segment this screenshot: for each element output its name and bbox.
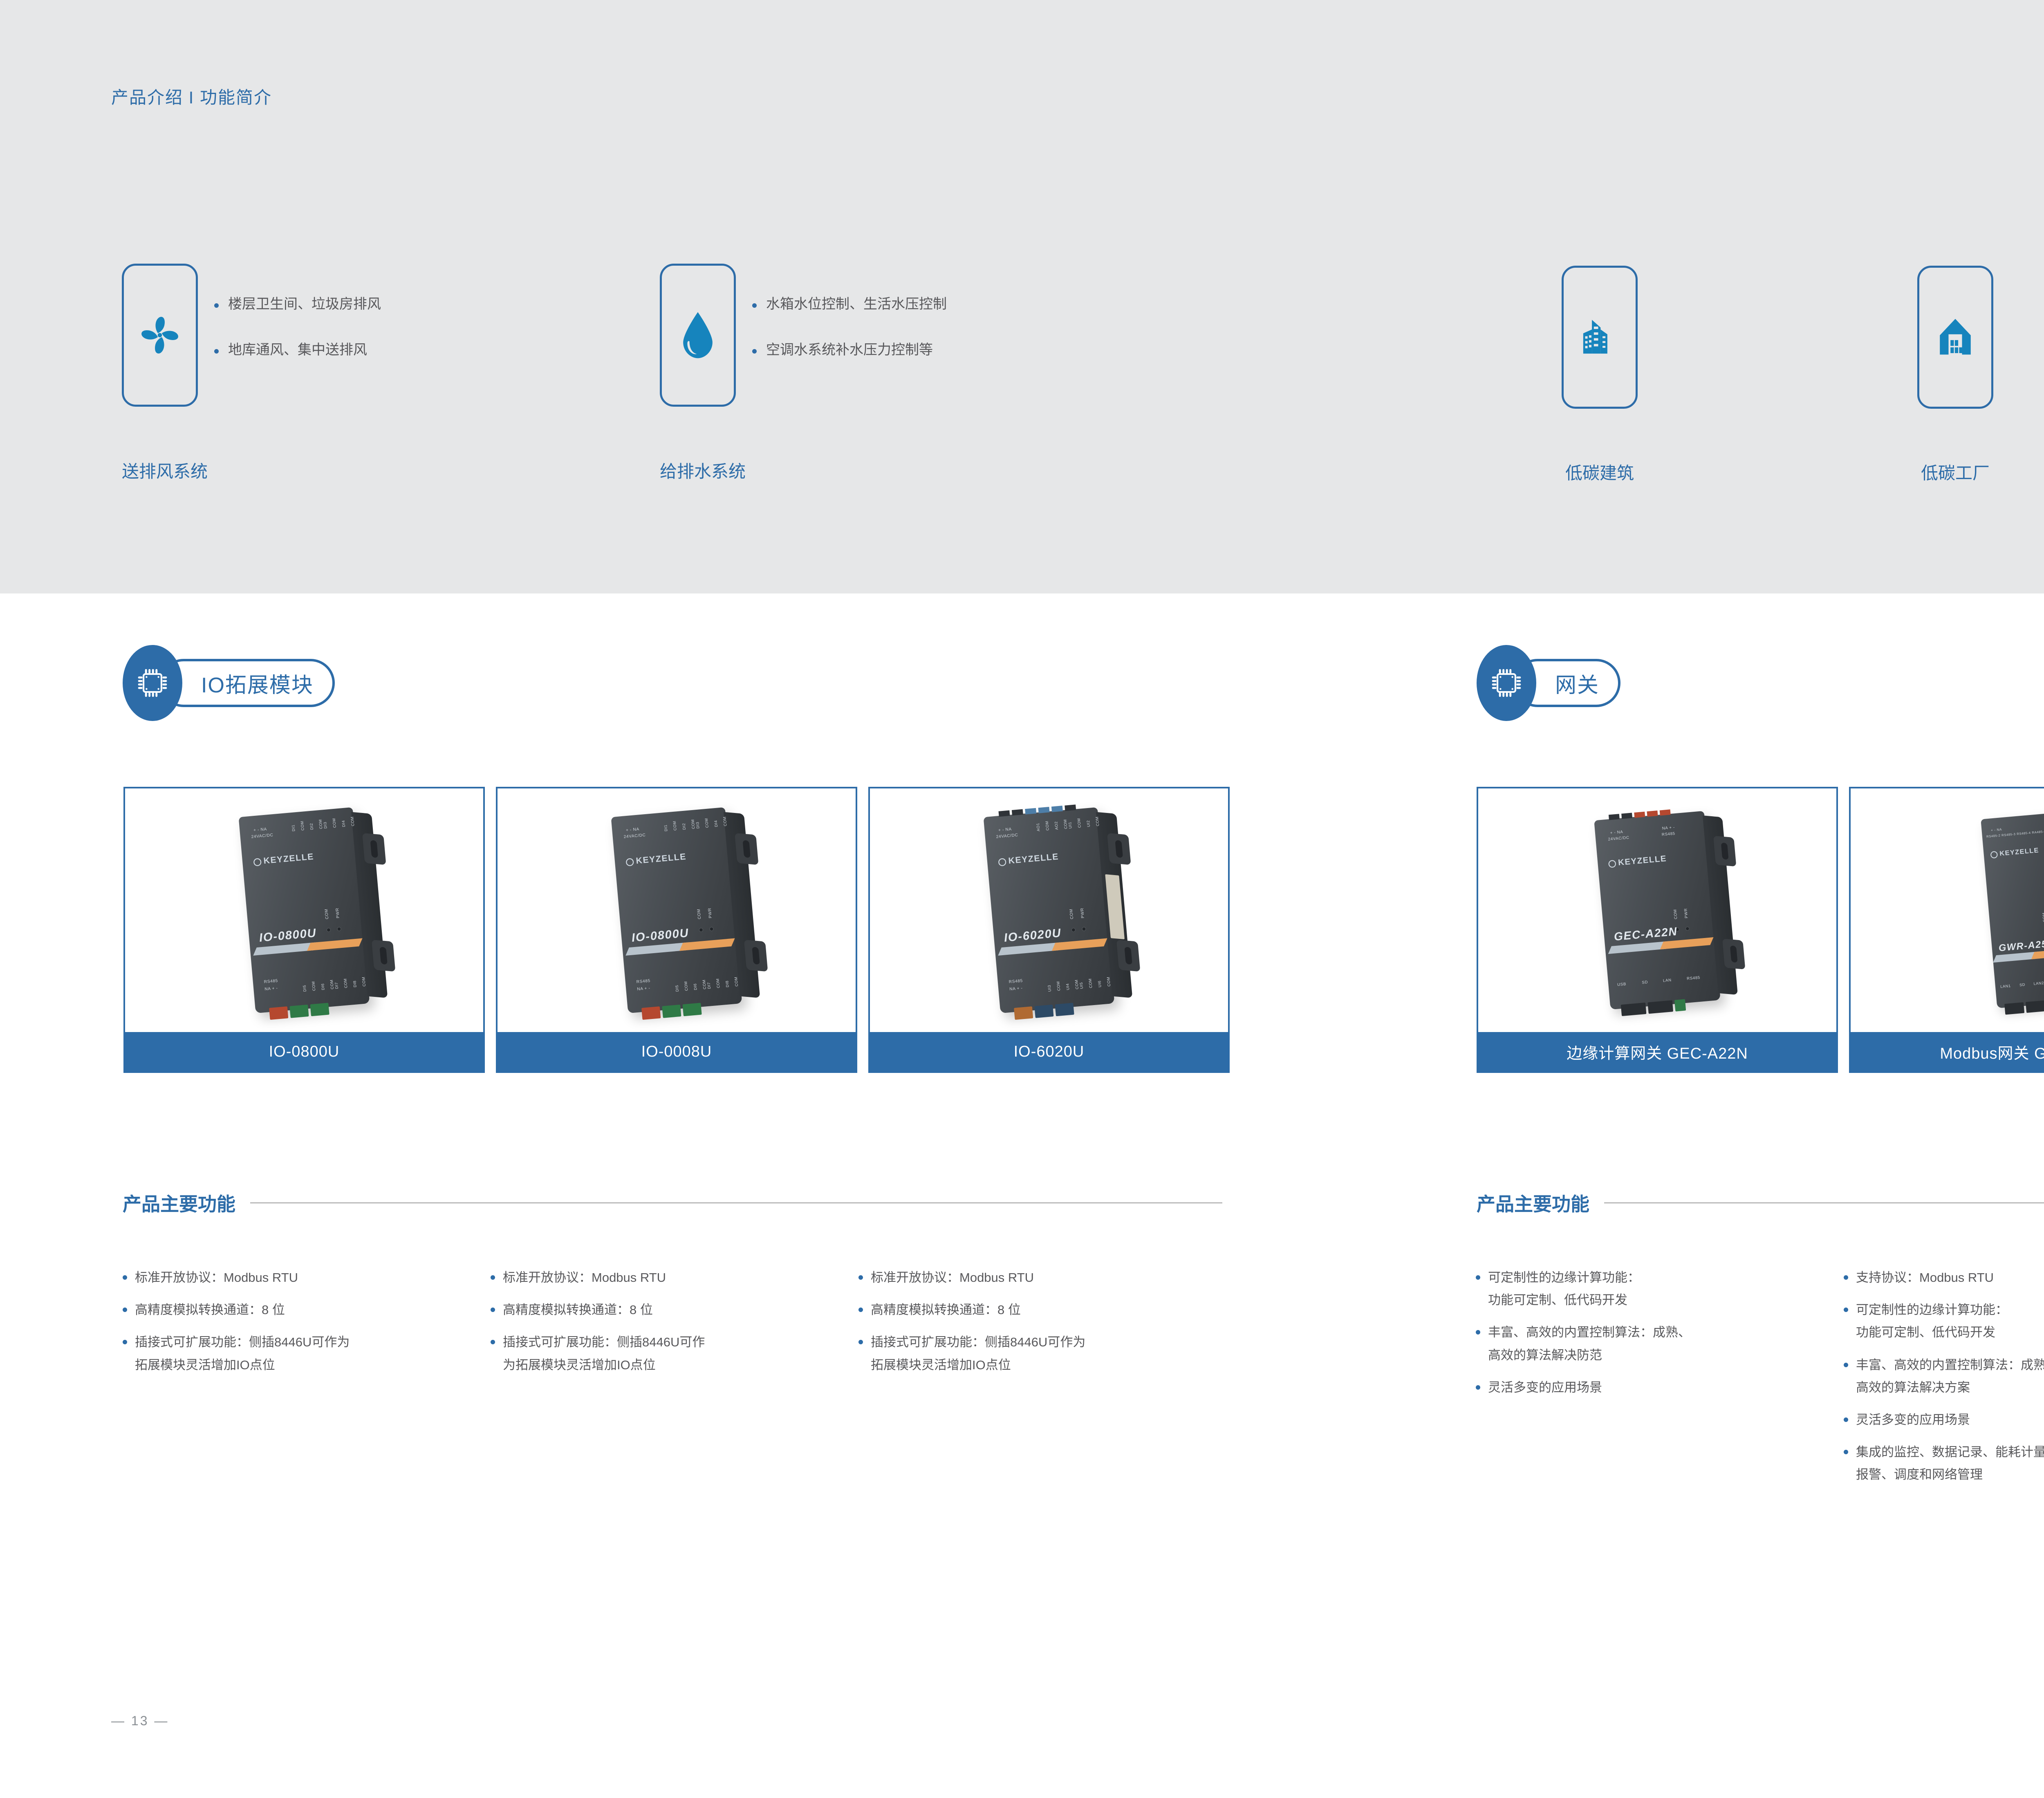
- product-photo: + - NA 24VAC/DC DI1 COM DI2 COM DI3 COM …: [498, 788, 856, 1032]
- device-model-text: IO-0800U: [259, 926, 317, 945]
- brand-mark-icon: [253, 858, 262, 867]
- led-label-pwr: PWR: [1683, 908, 1689, 918]
- product-caption: IO-0008U: [498, 1032, 856, 1071]
- brand-logo: KEYZELLE: [998, 852, 1059, 867]
- mounting-tab-icon: [744, 940, 768, 972]
- pin-label: COM: [361, 976, 366, 987]
- office-buildings-icon: [1576, 313, 1624, 361]
- chip-icon: [137, 667, 168, 699]
- terminal-connectors: [641, 1003, 702, 1020]
- led-label-pwr: PWR: [335, 908, 340, 918]
- pin-label: COM: [1106, 976, 1111, 987]
- pin-label: UI5: [1078, 979, 1084, 989]
- feature-line: 为拓展模块灵活增加IO点位: [503, 1354, 871, 1376]
- product-cards-io: + - NA 24VAC/DC DI1 COM DI2 COM DI3 COM …: [123, 787, 1230, 1073]
- feature-line: 拓展模块灵活增加IO点位: [135, 1354, 503, 1376]
- feature-line: 插接式可扩展功能：侧插8446U可作: [503, 1331, 871, 1353]
- mounting-tab-icon: [735, 833, 759, 865]
- feature-list: 标准开放协议：Modbus RTU 高精度模拟转换通道：8 位 插接式可扩展功能…: [503, 1266, 871, 1386]
- top-pin-row: DI1 COM DI2 COM: [290, 819, 323, 832]
- feature-line: 丰富、高效的内置控制算法：成熟、: [1488, 1321, 1856, 1343]
- port-label-rs485: RS485: [1687, 975, 1701, 981]
- status-leds: [326, 927, 341, 932]
- pin-label: DI7: [706, 979, 711, 989]
- pin-label: UI2: [1085, 817, 1091, 827]
- port-label-sd: SD: [1642, 980, 1648, 985]
- factory-icon-frame: [1917, 266, 1993, 409]
- feature-list: 标准开放协议：Modbus RTU 高精度模拟转换通道：8 位 插接式可扩展功能…: [135, 1266, 503, 1386]
- orange-stripe: [679, 938, 735, 951]
- bus-pins: NA + -: [1009, 985, 1023, 991]
- feature-line: 标准开放协议：Modbus RTU: [871, 1266, 1239, 1289]
- led-label-pwr: PWR: [707, 908, 713, 918]
- product-caption: IO-6020U: [870, 1032, 1228, 1071]
- port-label-usb: USB: [1617, 982, 1627, 987]
- power-label: + - NA: [1991, 828, 2002, 833]
- bottom-pin-row: UI3 COM UI4 COM: [1047, 979, 1079, 992]
- pin-label: COM: [722, 816, 728, 826]
- top-pin-row-2: UI1 COM UI2 COM: [1067, 816, 1100, 829]
- mounting-tab-icon: [1713, 836, 1736, 867]
- pin-label: DI5: [674, 982, 679, 992]
- pin-label: COM: [672, 821, 677, 831]
- scenario-ventilation-bullets: 楼层卫生间、垃圾房排风 地库通风、集中送排风: [228, 264, 381, 357]
- feature-line: 支持协议：Modbus RTU: [1856, 1266, 2044, 1289]
- device-body: + - NA 24VAC/DC NA + - RS485 KEYZELLE CO…: [1594, 811, 1720, 1010]
- pin-label: DI6: [693, 980, 698, 990]
- pin-label: COM: [683, 981, 688, 991]
- pin-label: COM: [332, 818, 337, 828]
- chip-icon-circle: [123, 645, 182, 721]
- divider: [250, 1202, 1222, 1203]
- bus-label: RS485: [636, 978, 650, 984]
- feature-line: 灵活多变的应用场景: [1856, 1408, 2044, 1431]
- brand-text: KEYZELLE: [1008, 852, 1059, 866]
- terminal-connectors: [2004, 999, 2044, 1014]
- power-label: + - NA: [253, 827, 267, 833]
- chip-icon-circle: [1477, 645, 1536, 721]
- pin-label: DI7: [334, 979, 339, 989]
- pin-label: UI3: [1047, 982, 1052, 992]
- feature-line: 高效的算法解决方案: [1856, 1376, 2044, 1399]
- device-gwr-a25n: + - NA RS485-2 RS485-3 RS485-4 RA485-5 K…: [1981, 812, 2044, 1008]
- feature-line: 功能可定制、低代码开发: [1488, 1289, 1856, 1311]
- pin-label: COM: [300, 821, 305, 831]
- scenario-water: 水箱水位控制、生活水压控制 空调水系统补水压力控制等: [660, 264, 947, 407]
- brand-logo: KEYZELLE: [1990, 847, 2039, 859]
- led-label-com: COM: [2042, 912, 2044, 922]
- status-leds: [699, 927, 714, 932]
- mounting-tab-icon: [362, 833, 386, 865]
- pin-label: DI4: [713, 817, 718, 827]
- mounting-tab-icon: [1116, 940, 1141, 972]
- mounting-tab-icon: [1722, 939, 1745, 970]
- feature-line: 报警、调度和网络管理: [1856, 1463, 2044, 1486]
- section-title: 网关: [1555, 668, 1599, 699]
- feature-line: 可定制性的边缘计算功能：: [1488, 1266, 1856, 1289]
- bottom-pin-row-2: DI7 COM DI8 COM: [334, 976, 366, 989]
- bus-label: RS485: [1009, 978, 1023, 984]
- bottom-pin-row-2: DI7 COM DI8 COM: [706, 976, 739, 989]
- section-title: IO拓展模块: [201, 668, 314, 699]
- pin-label: COM: [733, 976, 739, 987]
- device-model-text: IO-0800U: [631, 926, 690, 945]
- device-body: + - NA 24VAC/DC DI1 COM DI2 COM DI3 COM …: [611, 807, 742, 1013]
- list-item: 插接式可扩展功能：侧插8446U可作为 拓展模块灵活增加IO点位: [871, 1331, 1239, 1376]
- feature-line: 插接式可扩展功能：侧插8446U可作为: [135, 1331, 503, 1353]
- feature-line: 拓展模块灵活增加IO点位: [871, 1354, 1239, 1376]
- bus-label: RS485: [264, 978, 278, 984]
- factory-icon: [1931, 313, 1979, 361]
- pin-label: UI6: [1097, 977, 1102, 987]
- section-header-io-modules: IO拓展模块: [123, 645, 335, 721]
- product-photo: + - NA RS485-2 RS485-3 RS485-4 RA485-5 K…: [1851, 788, 2044, 1032]
- product-card[interactable]: + - NA 24VAC/DC DI1 COM DI2 COM DI3 COM …: [496, 787, 857, 1073]
- top-pin-row: AO1 COM AO2 COM: [1035, 819, 1068, 832]
- device-body: + - NA RS485-2 RS485-3 RS485-4 RA485-5 K…: [1981, 812, 2044, 1008]
- list-item: 可定制性的边缘计算功能： 功能可定制、低代码开发: [1856, 1299, 2044, 1343]
- product-cards-gateways: + - NA 24VAC/DC NA + - RS485 KEYZELLE CO…: [1477, 787, 2044, 1073]
- features-header-gateways: 产品主要功能: [1477, 1189, 2044, 1216]
- feature-list: 标准开放协议：Modbus RTU 高精度模拟转换通道：8 位 插接式可扩展功能…: [871, 1266, 1239, 1386]
- pin-label: COM: [311, 981, 316, 991]
- features-header-io: 产品主要功能: [123, 1189, 1222, 1216]
- bottom-pin-row: DI5 COM DI6 COM: [674, 979, 707, 992]
- brand-mark-icon: [1990, 851, 1998, 858]
- fan-icon: [135, 311, 184, 360]
- feature-line: 高精度模拟转换通道：8 位: [503, 1299, 871, 1321]
- list-item: 标准开放协议：Modbus RTU: [503, 1266, 871, 1289]
- list-item: 灵活多变的应用场景: [1856, 1408, 2044, 1431]
- pin-label: AO1: [1035, 822, 1040, 832]
- status-leds: [1071, 927, 1086, 932]
- scenario-water-label: 给排水系统: [660, 458, 746, 483]
- pin-label: DI8: [352, 977, 357, 987]
- pin-label: DI4: [341, 817, 346, 827]
- feature-line: 可定制性的边缘计算功能：: [1856, 1299, 2044, 1321]
- bottom-pin-row-2: UI5 COM UI6 COM: [1078, 976, 1111, 989]
- pin-label: COM: [1044, 821, 1050, 831]
- mounting-tab-icon: [372, 940, 396, 972]
- led-label-com: COM: [1069, 909, 1074, 919]
- top-pin-row-2: DI3 COM DI4 COM: [323, 816, 355, 829]
- top-comb-connectors: [999, 804, 1076, 817]
- pin-label: UI1: [1067, 819, 1073, 829]
- office-buildings-icon-frame: [1562, 266, 1638, 409]
- top-comb-connectors: [1609, 809, 1671, 820]
- product-card[interactable]: + - NA 24VAC/DC NA + - RS485 KEYZELLE CO…: [1477, 787, 1838, 1073]
- product-card[interactable]: + - NA RS485-2 RS485-3 RS485-4 RA485-5 K…: [1849, 787, 2044, 1073]
- feature-line: 高精度模拟转换通道：8 位: [871, 1299, 1239, 1321]
- bus-pins-top: NA + -: [1662, 825, 1675, 830]
- pin-label: DI8: [724, 977, 730, 987]
- terminal-connectors: [1014, 1003, 1074, 1020]
- list-item: 丰富、高效的内置控制算法：成熟、 高效的算法解决方案: [1856, 1354, 2044, 1399]
- orange-stripe: [1660, 937, 1714, 949]
- port-label-lan: LAN: [1663, 978, 1672, 983]
- terminal-connectors: [269, 1003, 329, 1020]
- product-caption: Modbus网关 GWR-A25N: [1851, 1032, 2044, 1071]
- mounting-tab-icon: [1107, 833, 1131, 865]
- feature-line: 功能可定制、低代码开发: [1856, 1321, 2044, 1343]
- feature-list: 支持协议：Modbus RTU 可定制性的边缘计算功能： 功能可定制、低代码开发…: [1856, 1266, 2044, 1496]
- bus-label-top: RS485: [1661, 831, 1675, 837]
- page-number-left: — 13 —: [111, 1713, 169, 1729]
- device-io-6020u: + - NA 24VAC/DC AO1 COM AO2 COM UI1 COM …: [984, 807, 1115, 1013]
- list-item: 水箱水位控制、生活水压控制: [766, 297, 947, 311]
- port-label-sd: SD: [2019, 983, 2026, 987]
- list-item: 楼层卫生间、垃圾房排风: [228, 297, 381, 311]
- scenario-ventilation-label: 送排风系统: [122, 458, 208, 483]
- power-spec: 24VAC/DC: [996, 833, 1018, 839]
- product-caption: 边缘计算网关 GEC-A22N: [1478, 1032, 1836, 1071]
- list-item: 地库通风、集中送排风: [228, 343, 381, 357]
- pin-label: COM: [704, 818, 709, 828]
- bottom-pin-row: DI5 COM DI6 COM: [302, 979, 334, 992]
- product-photo: + - NA 24VAC/DC AO1 COM AO2 COM UI1 COM …: [870, 788, 1228, 1032]
- features-title: 产品主要功能: [123, 1189, 235, 1216]
- device-body: + - NA 24VAC/DC AO1 COM AO2 COM UI1 COM …: [984, 807, 1115, 1013]
- feature-line: 高精度模拟转换通道：8 位: [135, 1299, 503, 1321]
- list-item: 标准开放协议：Modbus RTU: [871, 1266, 1239, 1289]
- pin-label: COM: [1095, 816, 1100, 826]
- brand-mark-icon: [998, 858, 1006, 867]
- brand-text: KEYZELLE: [1999, 847, 2040, 858]
- water-drop-icon: [674, 309, 722, 361]
- feature-line: 灵活多变的应用场景: [1488, 1376, 1856, 1399]
- list-item: 高精度模拟转换通道：8 位: [503, 1299, 871, 1321]
- list-item: 集成的监控、数据记录、能耗计量、 报警、调度和网络管理: [1856, 1441, 2044, 1486]
- pin-label: DI1: [290, 822, 296, 832]
- list-item: 高精度模拟转换通道：8 位: [871, 1299, 1239, 1321]
- scenario-water-bullets: 水箱水位控制、生活水压控制 空调水系统补水压力控制等: [766, 264, 947, 357]
- top-pin-row-2: DI3 COM DI4 COM: [695, 816, 728, 829]
- features-title: 产品主要功能: [1477, 1189, 1589, 1216]
- brand-mark-icon: [625, 858, 634, 867]
- tile-low-carbon-factory: 低碳工厂: [1917, 266, 1993, 484]
- feature-line: 标准开放协议：Modbus RTU: [503, 1266, 871, 1289]
- orange-stripe: [1052, 938, 1107, 951]
- water-drop-icon-frame: [660, 264, 736, 407]
- product-caption: IO-0800U: [125, 1032, 483, 1071]
- list-item: 灵活多变的应用场景: [1488, 1376, 1856, 1399]
- brand-mark-icon: [1608, 860, 1616, 868]
- brand-text: KEYZELLE: [636, 852, 687, 866]
- list-item: 空调水系统补水压力控制等: [766, 343, 947, 357]
- list-item: 支持协议：Modbus RTU: [1856, 1266, 2044, 1289]
- section-header-gateways: 网关: [1477, 645, 1620, 721]
- brand-logo: KEYZELLE: [253, 852, 314, 867]
- pin-label: COM: [1087, 978, 1093, 988]
- feature-line: 集成的监控、数据记录、能耗计量、: [1856, 1441, 2044, 1463]
- pin-label: DI6: [320, 980, 325, 990]
- tile-label: 低碳工厂: [1921, 459, 1990, 484]
- feature-line: 标准开放协议：Modbus RTU: [135, 1266, 503, 1289]
- feature-line: 丰富、高效的内置控制算法：成熟、: [1856, 1354, 2044, 1376]
- pin-label: COM: [1076, 818, 1082, 828]
- pin-label: DI3: [323, 819, 328, 829]
- list-item: 丰富、高效的内置控制算法：成熟、 高效的算法解决防范: [1488, 1321, 1856, 1366]
- brand-logo: KEYZELLE: [1608, 854, 1667, 869]
- pin-label: DI2: [309, 820, 314, 830]
- terminal-connectors: [1621, 999, 1686, 1016]
- tile-low-carbon-building: 低碳建筑: [1562, 266, 1638, 484]
- pin-label: COM: [1056, 981, 1061, 991]
- led-label-com: COM: [324, 909, 329, 919]
- led-label-com: COM: [696, 909, 702, 919]
- divider: [1604, 1202, 2044, 1203]
- device-body: + - NA 24VAC/DC DI1 COM DI2 COM DI3 COM …: [239, 807, 370, 1013]
- scenario-ventilation: 楼层卫生间、垃圾房排风 地库通风、集中送排风: [122, 264, 381, 407]
- bus-pins: NA + -: [637, 985, 650, 991]
- pin-label: DI3: [695, 819, 700, 829]
- pin-label: COM: [350, 816, 355, 826]
- power-label: + - NA: [998, 827, 1012, 833]
- led-label-com: COM: [1673, 909, 1678, 919]
- power-label: + - NA: [626, 827, 640, 833]
- feature-line: 高效的算法解决防范: [1488, 1344, 1856, 1366]
- top-pin-row: DI1 COM DI2 COM: [663, 819, 695, 832]
- device-io-0008u: + - NA 24VAC/DC DI1 COM DI2 COM DI3 COM …: [611, 807, 742, 1013]
- orange-stripe: [307, 938, 363, 951]
- header-label-left: 产品介绍 I 功能简介: [111, 84, 272, 109]
- brand-text: KEYZELLE: [1618, 854, 1667, 868]
- chip-icon: [1490, 667, 1522, 699]
- features-columns-io: 标准开放协议：Modbus RTU 高精度模拟转换通道：8 位 插接式可扩展功能…: [135, 1266, 1239, 1386]
- pin-label: COM: [343, 978, 348, 988]
- led-label-pwr: PWR: [1080, 908, 1085, 918]
- power-spec: 24VAC/DC: [623, 833, 646, 839]
- list-item: 插接式可扩展功能：侧插8446U可作为 拓展模块灵活增加IO点位: [135, 1331, 503, 1376]
- pin-label: DI5: [302, 982, 307, 992]
- device-io-0800u: + - NA 24VAC/DC DI1 COM DI2 COM DI3 COM …: [239, 807, 370, 1013]
- feature-line: 插接式可扩展功能：侧插8446U可作为: [871, 1331, 1239, 1353]
- brand-text: KEYZELLE: [263, 852, 314, 866]
- power-spec: 24VAC/DC: [1608, 835, 1629, 841]
- pin-label: DI1: [663, 822, 668, 832]
- feature-list: 可定制性的边缘计算功能： 功能可定制、低代码开发 丰富、高效的内置控制算法：成熟…: [1488, 1266, 1856, 1496]
- device-model-text: IO-6020U: [1004, 926, 1062, 945]
- product-card[interactable]: + - NA 24VAC/DC AO1 COM AO2 COM UI1 COM …: [868, 787, 1230, 1073]
- list-item: 高精度模拟转换通道：8 位: [135, 1299, 503, 1321]
- port-label-lan1: LAN1: [2000, 984, 2011, 989]
- product-card[interactable]: + - NA 24VAC/DC DI1 COM DI2 COM DI3 COM …: [123, 787, 485, 1073]
- brand-logo: KEYZELLE: [625, 852, 687, 867]
- bus-pins: NA + -: [264, 985, 278, 991]
- device-gec-a22n: + - NA 24VAC/DC NA + - RS485 KEYZELLE CO…: [1594, 811, 1720, 1010]
- list-item: 可定制性的边缘计算功能： 功能可定制、低代码开发: [1488, 1266, 1856, 1311]
- power-spec: 24VAC/DC: [251, 833, 273, 839]
- power-label: + - NA: [1610, 829, 1623, 835]
- list-item: 插接式可扩展功能：侧插8446U可作 为拓展模块灵活增加IO点位: [503, 1331, 871, 1376]
- product-photo: + - NA 24VAC/DC NA + - RS485 KEYZELLE CO…: [1478, 788, 1836, 1032]
- pin-label: UI4: [1065, 980, 1070, 990]
- pin-label: AO2: [1053, 820, 1059, 830]
- features-columns-gateways: 可定制性的边缘计算功能： 功能可定制、低代码开发 丰富、高效的内置控制算法：成熟…: [1488, 1266, 2044, 1496]
- pin-label: DI2: [681, 820, 686, 830]
- list-item: 标准开放协议：Modbus RTU: [135, 1266, 503, 1289]
- tile-label: 低碳建筑: [1565, 459, 1634, 484]
- fan-icon-frame: [122, 264, 198, 407]
- port-label-lan2: LAN2: [2033, 981, 2044, 986]
- section-title-pill: IO拓展模块: [159, 659, 335, 707]
- pin-label: COM: [715, 978, 720, 988]
- product-photo: + - NA 24VAC/DC DI1 COM DI2 COM DI3 COM …: [125, 788, 483, 1032]
